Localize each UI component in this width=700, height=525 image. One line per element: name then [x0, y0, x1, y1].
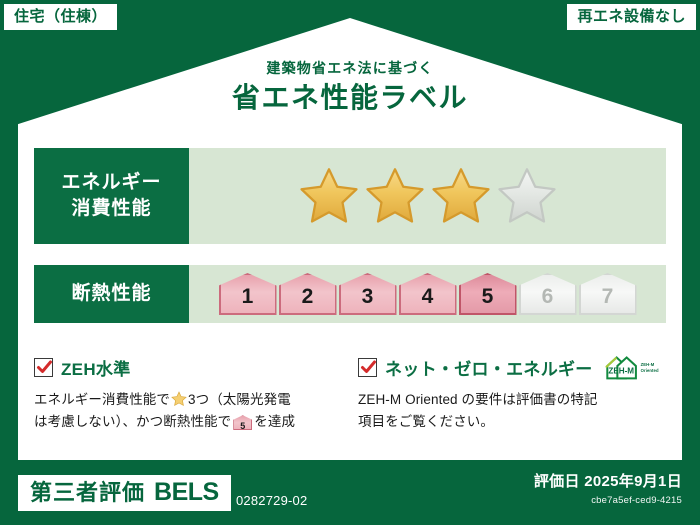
energy-consumption-row: エネルギー 消費性能	[34, 148, 666, 244]
insulation-grade-5: 5	[459, 273, 517, 315]
net-zero-energy-section: ネット・ゼロ・エネルギー ZEH-M ZEH-M Oriented ZEH-M …	[358, 355, 670, 434]
page-title: 省エネ性能ラベル	[0, 80, 700, 115]
zeh-desc-part1: エネルギー消費性能で	[34, 392, 170, 407]
insulation-grade-scale: 1234567	[189, 265, 666, 323]
insulation-performance-row: 断熱性能 1234567	[34, 265, 666, 323]
checkbox-checked-icon	[358, 358, 377, 377]
energy-consumption-label: エネルギー 消費性能	[34, 148, 189, 244]
energy-label-line1: エネルギー	[61, 170, 161, 196]
energy-star-rating	[189, 148, 666, 244]
star-filled-icon	[430, 166, 492, 226]
star-empty-icon	[496, 166, 558, 226]
evaluation-date-value: 2025年9月1日	[584, 473, 682, 490]
zeh-m-logo-sub-line1: ZEH-M	[641, 362, 655, 367]
zeh-m-logo-subtext: ZEH-M Oriented	[641, 362, 659, 373]
insulation-grade-6: 6	[519, 273, 577, 315]
evaluation-date-label: 評価日	[534, 473, 580, 490]
title-block: 建築物省エネ法に基づく 省エネ性能ラベル	[0, 60, 700, 115]
insulation-grade-7: 7	[579, 273, 637, 315]
zeh-standard-heading: ZEH水準	[34, 355, 334, 380]
insulation-grade-4: 4	[399, 273, 457, 315]
checkbox-checked-icon	[34, 358, 53, 377]
third-party-evaluation-label: 第三者評価	[30, 482, 145, 504]
zeh-m-logo-sub-line2: Oriented	[641, 368, 659, 373]
evaluation-id: cbe7a5ef-ced9-4215	[534, 495, 682, 506]
inline-grade-badge: 5	[233, 415, 252, 430]
zeh-standard-title: ZEH水準	[61, 355, 131, 380]
insulation-grade-1: 1	[219, 273, 277, 315]
zeh-desc-part2: は考慮しない）、かつ断熱性能で	[34, 414, 231, 429]
bels-mark: BELS	[154, 480, 219, 505]
renewable-equipment-tag: 再エネ設備なし	[567, 4, 696, 30]
evaluation-date: 評価日 2025年9月1日	[534, 473, 682, 491]
net-zero-energy-heading: ネット・ゼロ・エネルギー ZEH-M ZEH-M Oriented	[358, 355, 670, 380]
bels-certificate-number: 0282729-02	[236, 493, 307, 508]
svg-text:ZEH-M: ZEH-M	[608, 367, 634, 376]
inline-star-icon	[171, 391, 187, 407]
star-filled-icon	[364, 166, 426, 226]
zeh-desc-star-count: 3つ（太陽光発電	[188, 392, 291, 407]
zeh-standard-description: エネルギー消費性能で3つ（太陽光発電 は考慮しない）、かつ断熱性能で5を達成	[34, 389, 334, 434]
energy-performance-label: 住宅（住棟） 再エネ設備なし 建築物省エネ法に基づく 省エネ性能ラベル エネルギ…	[0, 0, 700, 525]
bels-badge: 第三者評価 BELS	[18, 475, 231, 511]
footer-bar: 第三者評価 BELS 0282729-02 評価日 2025年9月1日 cbe7…	[0, 465, 700, 525]
net-zero-energy-description: ZEH-M Oriented の要件は評価書の特記 項目をご覧ください。	[358, 389, 670, 434]
evaluation-info: 評価日 2025年9月1日 cbe7a5ef-ced9-4215	[534, 473, 682, 506]
zeh-desc-part3: を達成	[254, 414, 295, 429]
title-subtitle: 建築物省エネ法に基づく	[0, 60, 700, 77]
net-zero-energy-title: ネット・ゼロ・エネルギー	[385, 355, 593, 380]
zeh-m-logo: ZEH-M ZEH-M Oriented	[605, 355, 659, 380]
star-filled-icon	[298, 166, 360, 226]
net-zero-desc-line1: ZEH-M Oriented の要件は評価書の特記	[358, 392, 598, 407]
net-zero-desc-line2: 項目をご覧ください。	[358, 414, 494, 429]
energy-label-line2: 消費性能	[71, 196, 151, 222]
insulation-grade-3: 3	[339, 273, 397, 315]
insulation-grade-2: 2	[279, 273, 337, 315]
insulation-performance-label: 断熱性能	[34, 265, 189, 323]
zeh-standard-section: ZEH水準 エネルギー消費性能で3つ（太陽光発電 は考慮しない）、かつ断熱性能で…	[34, 355, 334, 434]
building-type-tag: 住宅（住棟）	[4, 4, 117, 30]
